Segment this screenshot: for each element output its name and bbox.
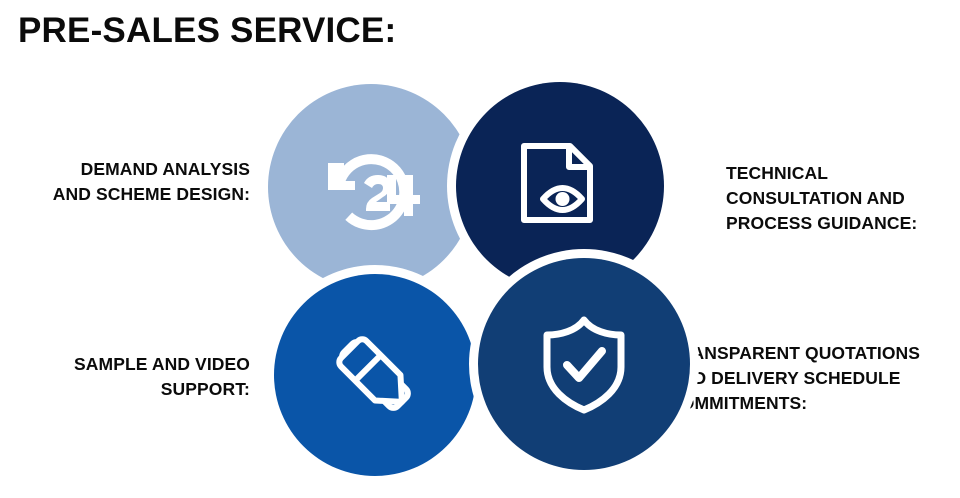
label-demand-line-2: AND SCHEME DESIGN: <box>10 182 250 207</box>
label-demand-line-1: DEMAND ANALYSIS <box>10 157 250 182</box>
label-technical-line-2: CONSULTATION AND <box>726 186 954 211</box>
circle-demand-analysis[interactable] <box>268 84 474 290</box>
shield-check-icon <box>536 313 632 415</box>
page-title: PRE-SALES SERVICE: <box>18 12 396 51</box>
label-demand-analysis: DEMAND ANALYSIS AND SCHEME DESIGN: <box>10 157 250 207</box>
circle-sample-video-support[interactable] <box>274 274 476 476</box>
label-technical-line-1: TECHNICAL <box>726 161 954 186</box>
label-transparent-quotations: TRANSPARENT QUOTATIONS AND DELIVERY SCHE… <box>668 341 960 416</box>
label-technical-consultation: TECHNICAL CONSULTATION AND PROCESS GUIDA… <box>726 161 954 236</box>
label-transparent-line-2: AND DELIVERY SCHEDULE <box>668 366 960 391</box>
pencil-ruler-icon <box>325 325 425 425</box>
clock-24-rotate-icon <box>319 137 423 237</box>
document-eye-icon <box>510 136 610 236</box>
label-sample-line-2: SUPPORT: <box>10 377 250 402</box>
circle-transparent-quotations[interactable] <box>478 258 690 470</box>
label-sample-video-support: SAMPLE AND VIDEO SUPPORT: <box>10 352 250 402</box>
label-sample-line-1: SAMPLE AND VIDEO <box>10 352 250 377</box>
label-technical-line-3: PROCESS GUIDANCE: <box>726 211 954 236</box>
label-transparent-line-3: COMMITMENTS: <box>668 391 960 416</box>
infographic-canvas: PRE-SALES SERVICE: DEMAND ANALYSIS AND S… <box>0 0 960 498</box>
icon-wrap-demand <box>268 84 474 290</box>
icon-wrap-sample <box>274 274 476 476</box>
circle-cluster <box>260 78 700 490</box>
icon-wrap-transparent <box>478 258 690 470</box>
label-transparent-line-1: TRANSPARENT QUOTATIONS <box>668 341 960 366</box>
